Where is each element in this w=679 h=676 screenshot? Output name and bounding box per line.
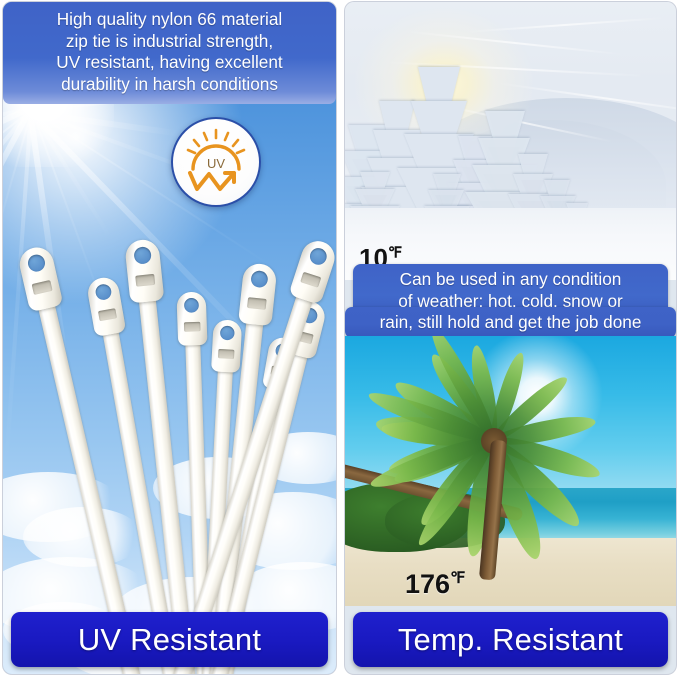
cold-temperature-unit: ℉ [388,244,402,261]
hot-temperature-value: 176 [405,569,450,599]
zip-tie-mounting-hole [184,298,199,313]
weather-banner-line-3-plate: rain, still hold and get the job done [345,307,676,338]
tropical-scene: 176℉ [345,336,676,606]
uv-resistant-caption: UV Resistant [78,622,261,658]
uv-banner-line-4: durability in harsh conditions [9,74,330,96]
zip-tie-mounting-hole [308,246,329,267]
uv-sun-icon: UV [173,119,259,205]
weather-line-1: Can be used in any condition [357,268,664,290]
zip-tie-ratchet-slot [247,297,267,310]
zip-tie-mounting-hole [94,283,112,301]
zip-tie-ratchet-slot [184,322,201,332]
uv-banner: High quality nylon 66 material zip tie i… [3,2,336,104]
temp-resistant-panel: 10℉ Can be used in any condition of weat… [345,2,676,674]
zip-tie-mounting-hole [133,246,152,265]
zip-tie-head [288,237,336,305]
zip-tie-mounting-hole [250,270,268,288]
uv-badge: UV [171,117,261,207]
zip-tie-head [176,291,207,345]
zip-tie-head [86,275,127,337]
uv-banner-line-2: zip tie is industrial strength, [9,31,330,53]
temp-resistant-caption-plate: Temp. Resistant [353,612,668,667]
zip-tie-ratchet-slot [32,280,53,295]
zip-tie-head [238,262,277,326]
uv-banner-line-3: UV resistant, having excellent [9,52,330,74]
zip-tie-ratchet-slot [135,274,155,287]
zip-tie-ratchet-slot [98,308,117,321]
hot-temperature-unit: ℉ [450,570,465,587]
uv-banner-line-1: High quality nylon 66 material [9,9,330,31]
hot-temperature-label: 176℉ [405,568,465,600]
product-feature-infographic: UV High quality nylon 66 material zip ti… [0,0,679,676]
temp-resistant-caption: Temp. Resistant [398,622,623,658]
uv-resistant-caption-plate: UV Resistant [11,612,328,667]
zip-tie-head [124,238,164,303]
svg-text:UV: UV [207,156,225,171]
zip-tie-ratchet-slot [300,272,321,288]
weather-line-3: rain, still hold and get the job done [380,312,642,332]
zip-tie-mounting-hole [26,253,46,273]
zip-tie-head [16,244,63,312]
uv-resistant-panel: UV High quality nylon 66 material zip ti… [3,2,336,674]
snow-scene: 10℉ [345,2,676,280]
